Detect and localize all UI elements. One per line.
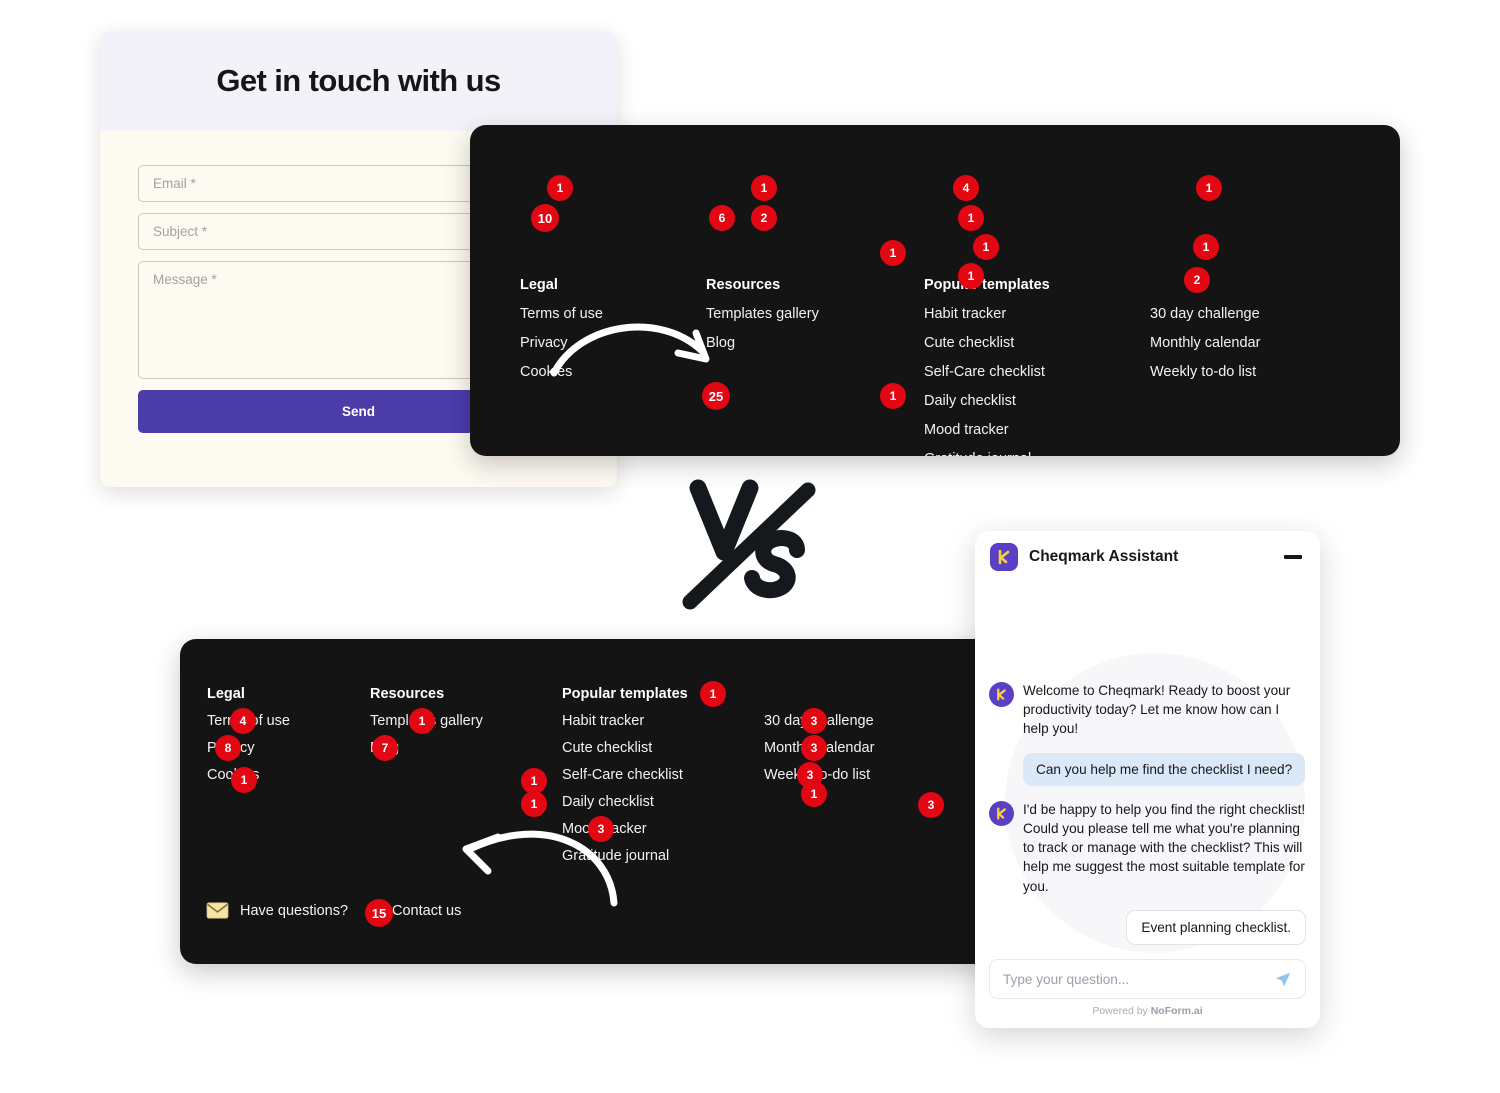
contact-form-header: Get in touch with us bbox=[100, 31, 617, 131]
chat-user-text-1: Can you help me find the checklist I nee… bbox=[1023, 753, 1305, 786]
footer2-contact-row: Have questions? Contact us bbox=[206, 902, 461, 919]
page-title: Get in touch with us bbox=[216, 63, 500, 99]
footer-link-self-care-checklist[interactable]: Self-Care checklist bbox=[924, 364, 1045, 380]
footer2-contact-us-link[interactable]: Contact us bbox=[392, 903, 461, 919]
annotation-badge: 1 bbox=[958, 205, 984, 231]
chat-bot-text-1: Welcome to Cheqmark! Ready to boost your… bbox=[1023, 681, 1306, 739]
footer-link-cookies[interactable]: Cookies bbox=[520, 364, 572, 380]
annotation-badge: 3 bbox=[801, 735, 827, 761]
annotation-badge: 15 bbox=[365, 899, 393, 927]
footer-col-title-legal: Legal bbox=[520, 277, 558, 293]
annotation-badge: 8 bbox=[215, 735, 241, 761]
message-placeholder: Message * bbox=[153, 272, 217, 287]
annotation-badge: 1 bbox=[801, 781, 827, 807]
footer2-col-title-popular-templates: Popular templates bbox=[562, 686, 688, 702]
footer2-link-habit-tracker[interactable]: Habit tracker bbox=[562, 713, 644, 729]
annotation-badge: 25 bbox=[702, 382, 730, 410]
annotation-badge: 3 bbox=[588, 816, 614, 842]
footer2-have-questions-label: Have questions? bbox=[240, 903, 348, 919]
footer2-link-gratitude-journal[interactable]: Gratitude journal bbox=[562, 848, 669, 864]
cheqmark-logo-icon bbox=[990, 543, 1018, 571]
footer2-link-cute-checklist[interactable]: Cute checklist bbox=[562, 740, 652, 756]
annotation-badge: 1 bbox=[751, 175, 777, 201]
footer2-col-title-resources: Resources bbox=[370, 686, 444, 702]
powered-by-label: Powered by NoForm.ai bbox=[975, 1003, 1320, 1028]
assistant-avatar-icon bbox=[989, 682, 1014, 707]
annotation-badge: 1 bbox=[521, 791, 547, 817]
powered-brand: NoForm.ai bbox=[1151, 1005, 1203, 1017]
footer-link-monthly-calendar[interactable]: Monthly calendar bbox=[1150, 335, 1260, 351]
annotation-badge: 1 bbox=[958, 263, 984, 289]
footer-panel-variant-b: Legal Terms of use Privacy Cookies Resou… bbox=[180, 639, 1010, 964]
chat-input[interactable]: Type your question... bbox=[989, 959, 1306, 999]
footer-col-title-popular-templates: Popular templates bbox=[924, 277, 1050, 293]
annotation-badge: 3 bbox=[918, 792, 944, 818]
annotation-badge: 1 bbox=[880, 240, 906, 266]
annotation-badge: 1 bbox=[231, 767, 257, 793]
annotation-badge: 3 bbox=[801, 708, 827, 734]
footer2-col-title-legal: Legal bbox=[207, 686, 245, 702]
annotation-badge: 1 bbox=[547, 175, 573, 201]
footer-link-30-day-challenge[interactable]: 30 day challenge bbox=[1150, 306, 1260, 322]
annotation-badge: 2 bbox=[751, 205, 777, 231]
annotation-badge: 1 bbox=[1196, 175, 1222, 201]
footer-link-habit-tracker[interactable]: Habit tracker bbox=[924, 306, 1006, 322]
chat-suggestion-button[interactable]: Event planning checklist. bbox=[1126, 910, 1306, 945]
chat-input-placeholder: Type your question... bbox=[1003, 972, 1274, 987]
send-plane-icon[interactable] bbox=[1274, 970, 1292, 988]
annotation-badge: 6 bbox=[709, 205, 735, 231]
subject-placeholder: Subject * bbox=[153, 224, 207, 239]
chat-message-bot-2: I'd be happy to help you find the right … bbox=[989, 800, 1306, 896]
footer-link-blog[interactable]: Blog bbox=[706, 335, 735, 351]
assistant-avatar-icon bbox=[989, 801, 1014, 826]
chat-bot-text-2: I'd be happy to help you find the right … bbox=[1023, 800, 1306, 896]
powered-prefix: Powered by bbox=[1092, 1005, 1150, 1017]
chat-message-bot-1: Welcome to Cheqmark! Ready to boost your… bbox=[989, 681, 1306, 739]
annotation-badge: 1 bbox=[1193, 234, 1219, 260]
footer-link-mood-tracker[interactable]: Mood tracker bbox=[924, 422, 1009, 438]
annotation-badge: 4 bbox=[230, 708, 256, 734]
footer-link-weekly-todo-list[interactable]: Weekly to-do list bbox=[1150, 364, 1256, 380]
chat-suggestion-row: Event planning checklist. bbox=[989, 910, 1306, 945]
chat-widget: Cheqmark Assistant Welcome to Cheqmark! … bbox=[975, 531, 1320, 1028]
footer-panel-variant-a: Legal Terms of use Privacy Cookies Resou… bbox=[470, 125, 1400, 456]
versus-divider-icon bbox=[676, 478, 822, 614]
footer-link-gratitude-journal[interactable]: Gratitude journal bbox=[924, 451, 1031, 456]
footer-link-cute-checklist[interactable]: Cute checklist bbox=[924, 335, 1014, 351]
footer-col-title-resources: Resources bbox=[706, 277, 780, 293]
annotation-badge: 1 bbox=[880, 383, 906, 409]
chat-message-user-1: Can you help me find the checklist I nee… bbox=[989, 753, 1306, 786]
annotation-badge: 2 bbox=[1184, 267, 1210, 293]
annotation-badge: 1 bbox=[409, 708, 435, 734]
chat-input-area: Type your question... bbox=[975, 953, 1320, 1003]
footer2-link-daily-checklist[interactable]: Daily checklist bbox=[562, 794, 654, 810]
annotation-badge: 1 bbox=[973, 234, 999, 260]
chat-header: Cheqmark Assistant bbox=[975, 531, 1320, 583]
annotation-badge: 1 bbox=[700, 681, 726, 707]
envelope-icon bbox=[206, 902, 229, 919]
email-placeholder: Email * bbox=[153, 176, 196, 191]
footer2-link-self-care-checklist[interactable]: Self-Care checklist bbox=[562, 767, 683, 783]
annotation-badge: 7 bbox=[372, 735, 398, 761]
footer-link-daily-checklist[interactable]: Daily checklist bbox=[924, 393, 1016, 409]
minimize-icon[interactable] bbox=[1284, 555, 1302, 559]
footer-link-privacy[interactable]: Privacy bbox=[520, 335, 568, 351]
footer-link-templates-gallery[interactable]: Templates gallery bbox=[706, 306, 819, 322]
screenshot-canvas: Get in touch with us Email * Subject * M… bbox=[0, 0, 1500, 1093]
footer-link-terms-of-use[interactable]: Terms of use bbox=[520, 306, 603, 322]
chat-title: Cheqmark Assistant bbox=[1029, 548, 1273, 566]
annotation-badge: 10 bbox=[531, 204, 559, 232]
chat-message-list: Welcome to Cheqmark! Ready to boost your… bbox=[975, 583, 1320, 953]
annotation-badge: 4 bbox=[953, 175, 979, 201]
